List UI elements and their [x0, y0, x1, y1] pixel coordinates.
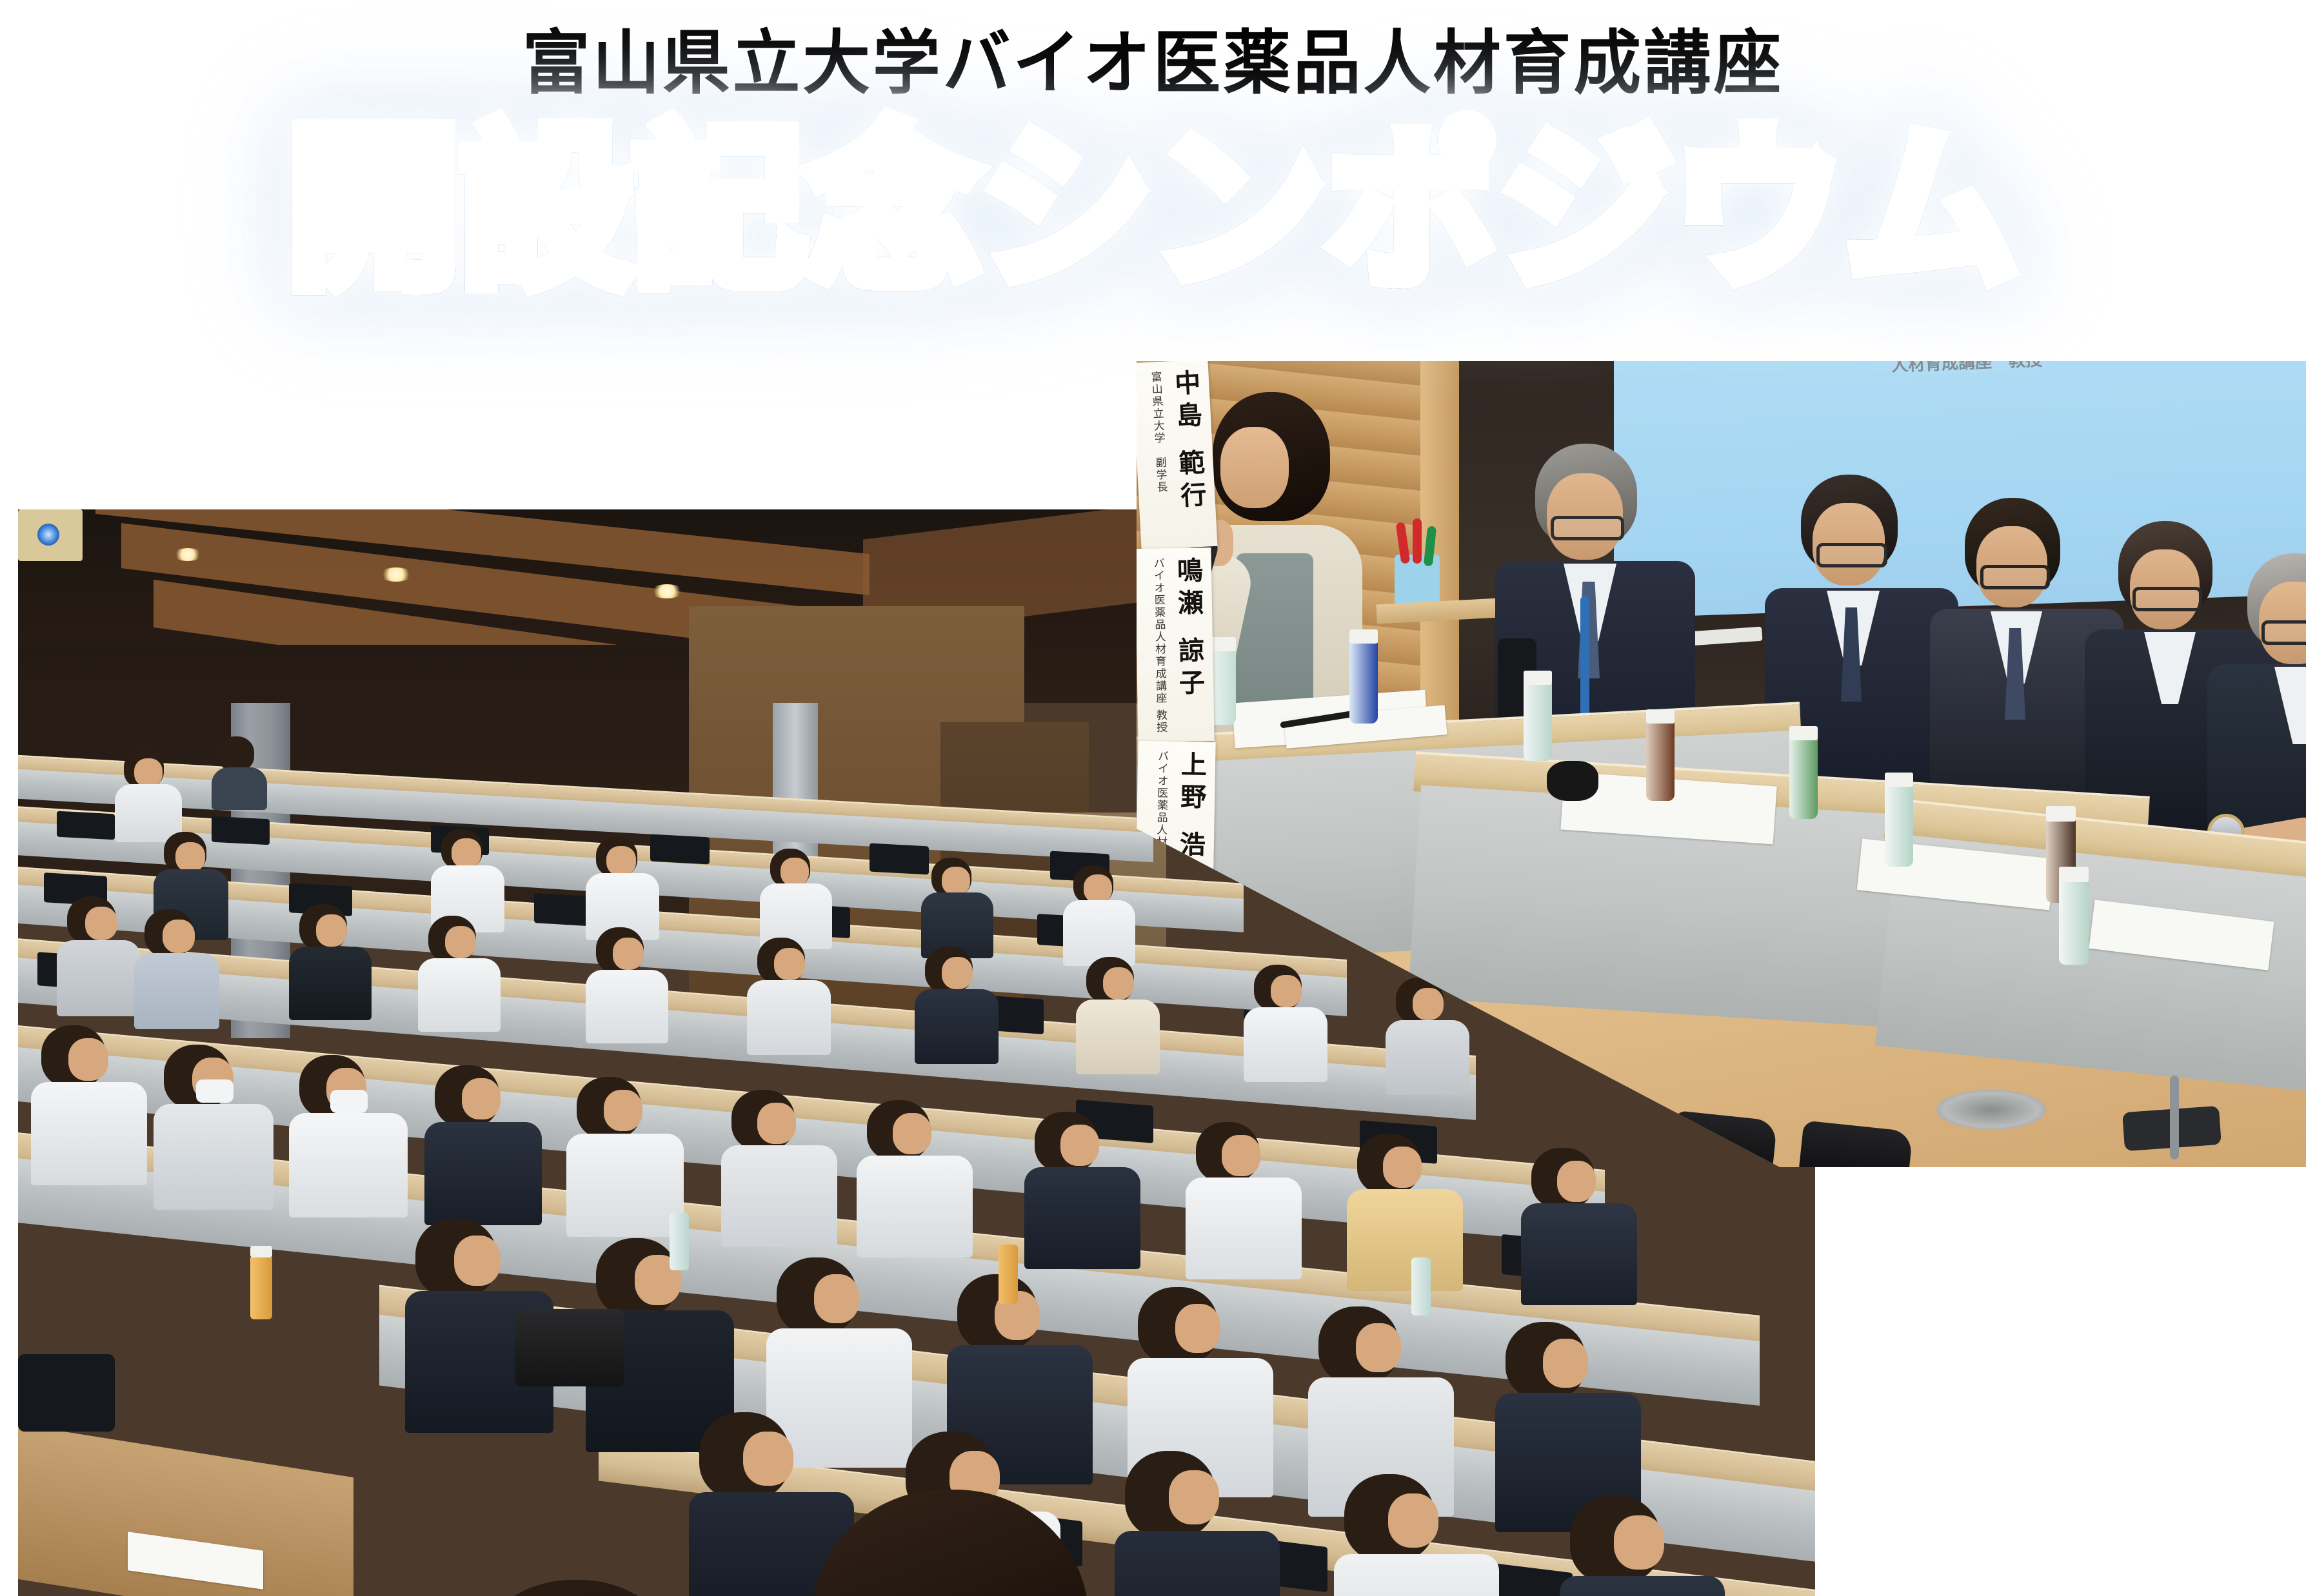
chair	[212, 816, 270, 845]
placard-name: 中島 範行	[1166, 369, 1211, 515]
drink-bottle	[250, 1255, 272, 1319]
name-placard: 鳴瀬 諒子 バイオ医薬品人材育成講座 教授	[1137, 547, 1215, 742]
eyeglasses	[2132, 587, 2202, 611]
water-bottle	[1789, 736, 1818, 819]
downlight	[379, 567, 413, 582]
bottle-cap	[1646, 709, 1675, 724]
chair	[57, 811, 115, 840]
chair	[650, 834, 710, 865]
chair	[18, 1354, 115, 1432]
downlight	[173, 548, 203, 561]
corner-mask	[1815, 1167, 2306, 1596]
microphone-head	[1547, 761, 1598, 801]
eyeglasses	[1551, 516, 1624, 540]
bottle-cap	[250, 1246, 272, 1257]
eyeglasses	[1816, 543, 1887, 567]
water-bottle	[1524, 681, 1552, 761]
poster-title-wrap: 開設記念シンポジウム	[0, 123, 2306, 298]
drink-bottle	[670, 1212, 689, 1270]
eyeglasses	[2261, 620, 2306, 645]
face-mask	[196, 1079, 234, 1103]
face	[1220, 427, 1289, 508]
placard-name: 鳴瀬 諒子	[1169, 557, 1209, 702]
water-bottle	[2059, 877, 2089, 965]
bottle-cap	[1524, 671, 1552, 685]
water-bottle	[1885, 783, 1913, 867]
drink-bottle	[1411, 1257, 1431, 1315]
eyeglasses	[1980, 565, 2050, 589]
bottle-cap	[2046, 806, 2076, 822]
name-placard: 中島 範行 富山県立大学 副学長	[1137, 361, 1218, 550]
placard-org: バイオ医薬品人材育成講座 教授	[1150, 557, 1169, 734]
chair-leg	[2170, 1076, 2179, 1159]
chair	[870, 843, 929, 875]
bottle-cap	[1885, 773, 1913, 787]
lanyard	[1580, 596, 1589, 731]
bottle-cap	[2059, 867, 2089, 882]
video-camera	[515, 1309, 624, 1386]
drink-bottle	[999, 1245, 1018, 1304]
face-mask	[330, 1090, 368, 1113]
poster-header: 富山県立大学バイオ医薬品人材育成講座 開設記念シンポジウム	[0, 0, 2306, 361]
bottle-cap	[1349, 629, 1378, 644]
floor-vent	[1936, 1090, 2046, 1130]
water-bottle	[1349, 640, 1378, 724]
poster-subtitle: 富山県立大学バイオ医薬品人材育成講座	[35, 26, 2272, 103]
downlight	[650, 584, 684, 598]
marker-pen	[1413, 518, 1422, 564]
water-bottle	[1646, 720, 1675, 801]
bottle-cap	[1789, 726, 1818, 740]
projector-lens-icon	[37, 524, 59, 546]
poster-main-title: 開設記念シンポジウム	[287, 123, 2019, 298]
